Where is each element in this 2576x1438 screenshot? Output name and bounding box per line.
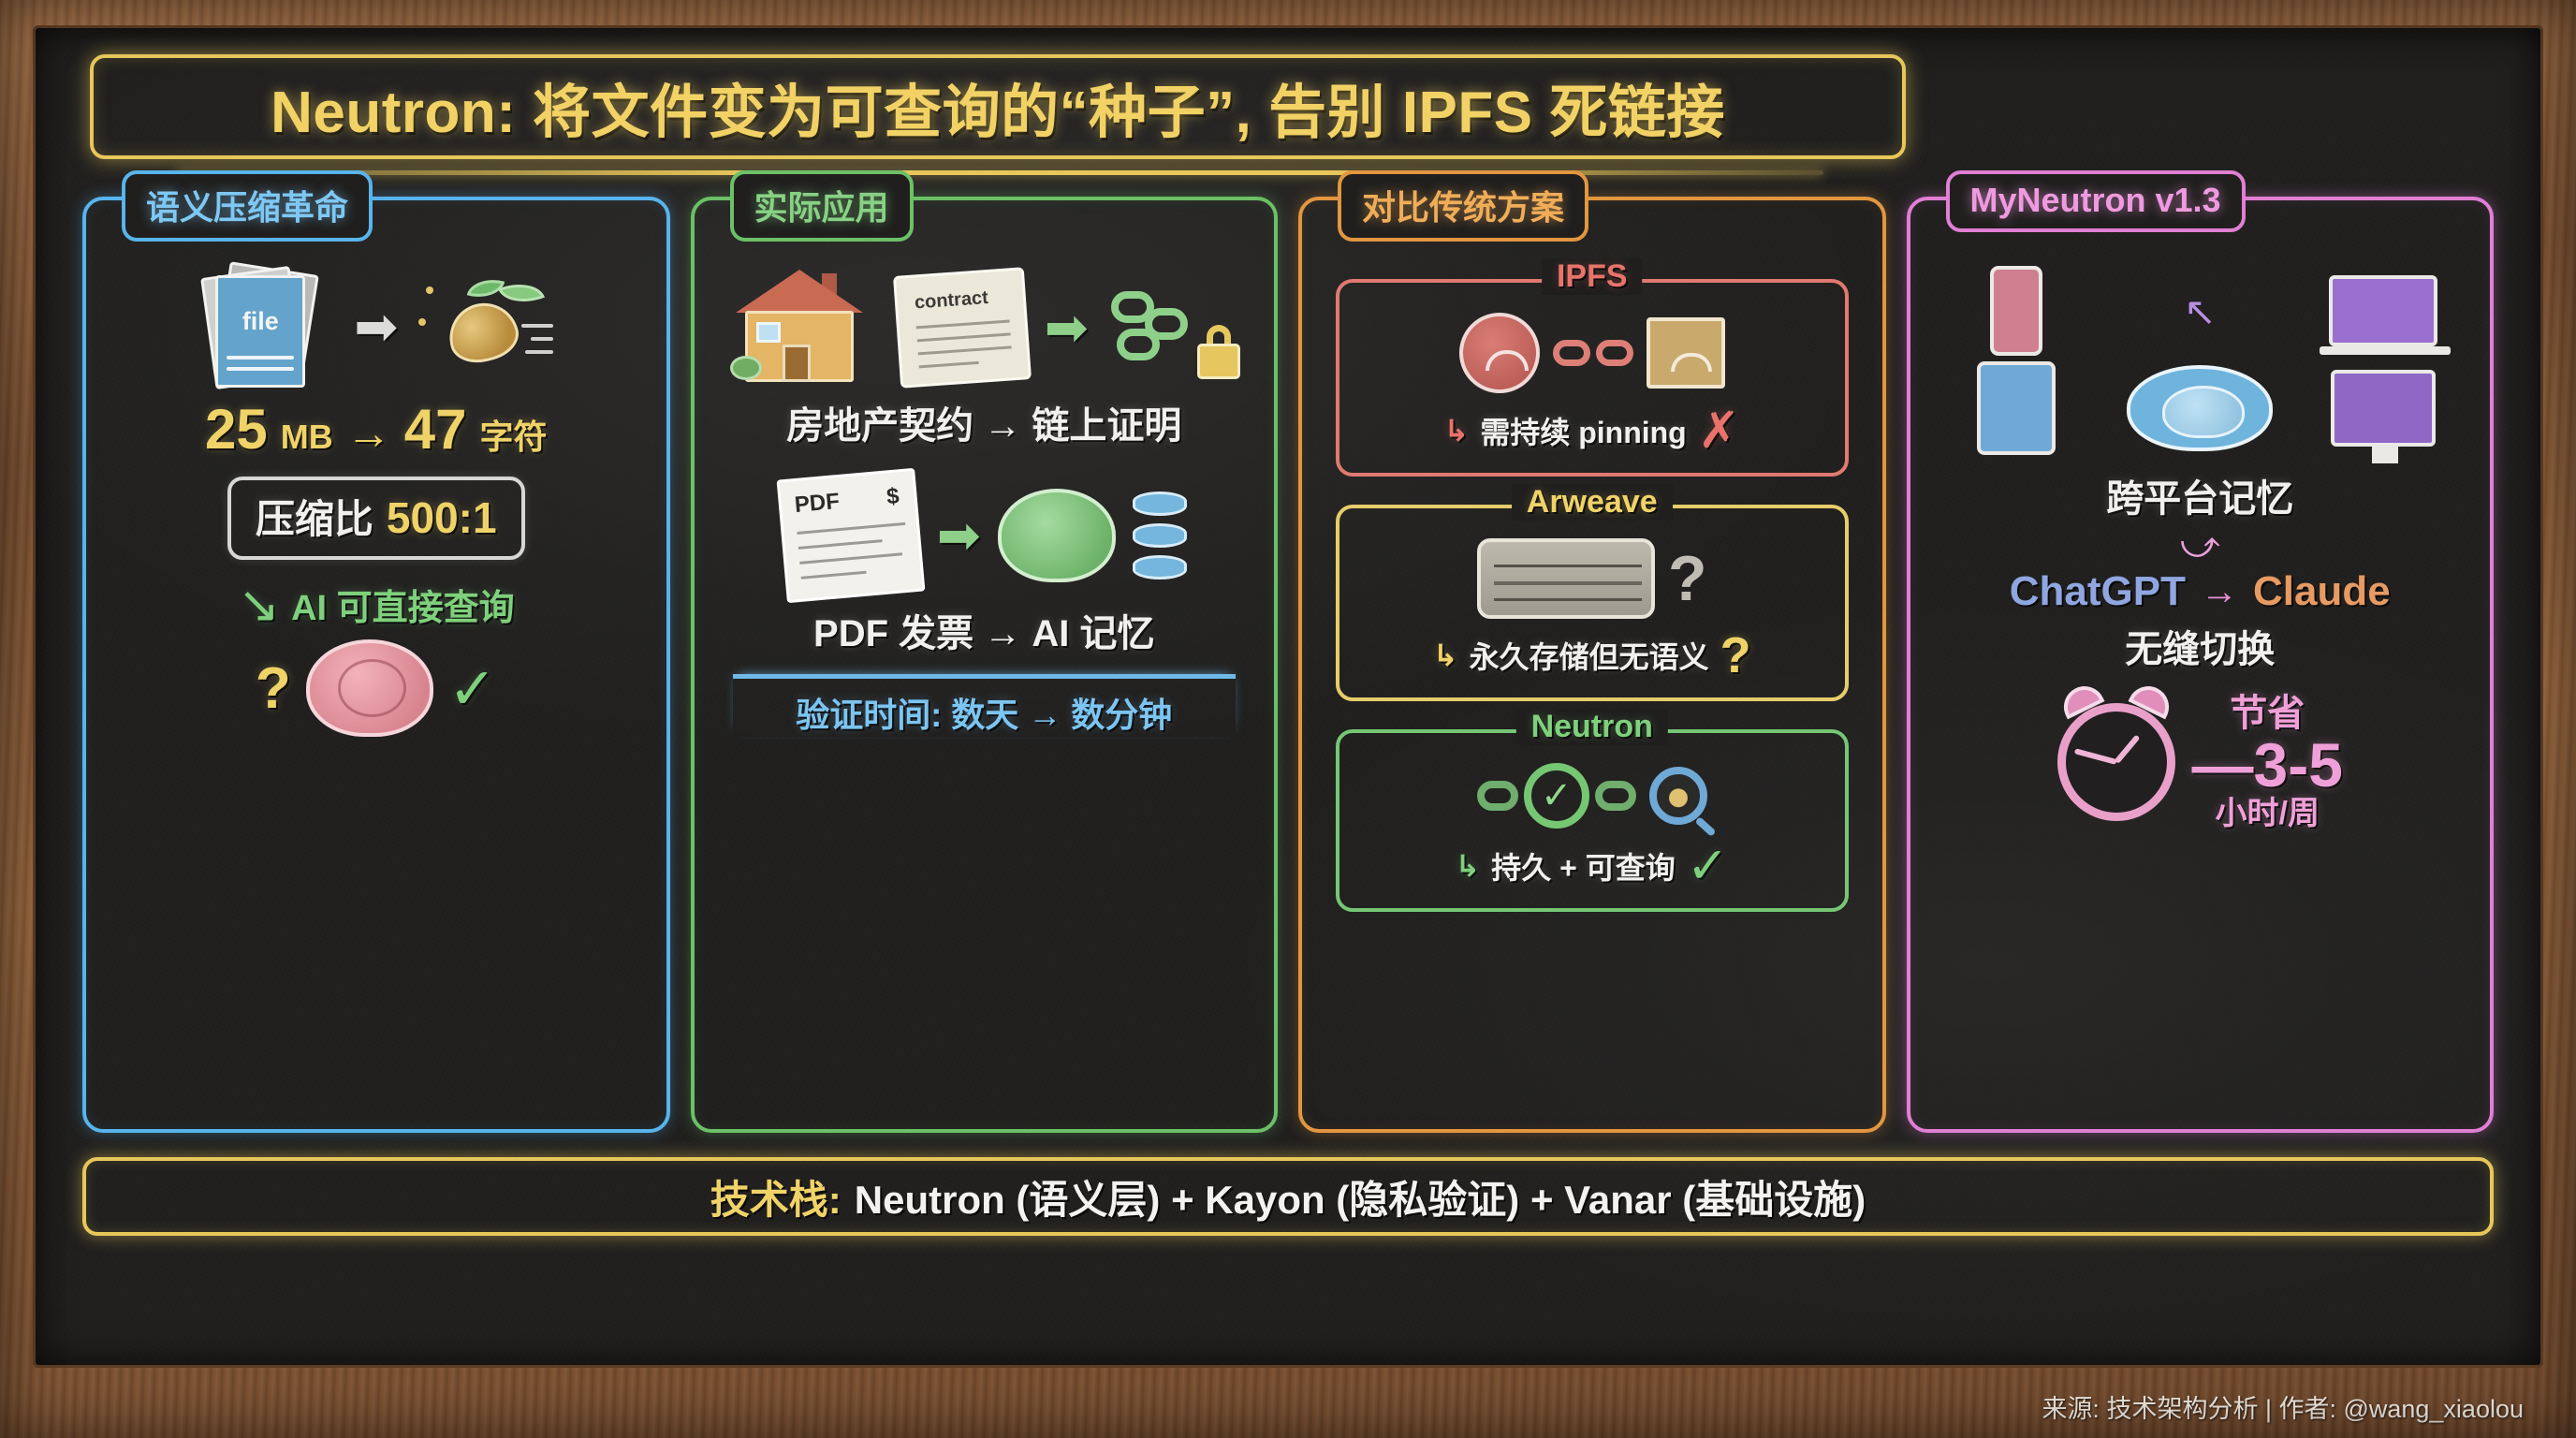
ipfs-caption-row: ↳ 需持续 pinning ✗ (1444, 401, 1740, 460)
contract-label: contract (914, 287, 988, 314)
flow-arrow-icon-1: ➡ (1045, 297, 1089, 359)
stone-tablet-icon (1477, 538, 1655, 619)
neutron-caption-row: ↳ 持久 + 可查询 ✓ (1455, 836, 1729, 895)
panel-body-applications: contract ➡ 房地产契约 → 链上证明 (695, 242, 1275, 754)
comparison-item-neutron: Neutron ✓ ↳ 持久 + 可查询 ✓ (1336, 729, 1849, 912)
application-caption-2: PDF 发票 → AI 记忆 (813, 603, 1154, 657)
tech-stack-bar: 技术栈: Neutron (语义层) + Kayon (隐私验证) + Vana… (82, 1157, 2494, 1236)
arweave-arrow-icon: ↳ (1433, 638, 1458, 673)
llm-from-label: ChatGPT (2010, 568, 2186, 615)
tech-stack-label: 技术栈: (710, 1168, 842, 1225)
verified-chain-icon: ✓ (1477, 763, 1636, 829)
monitor-icon (2331, 370, 2436, 447)
source-credit: 来源: 技术架构分析 | 作者: @wang_xiaolou (2042, 1388, 2524, 1425)
llm-switch-row: ChatGPT → Claude (2010, 568, 2391, 615)
savings-block: 节省 —3-5 小时/周 (2192, 694, 2343, 831)
neutron-caption: 持久 + 可查询 (1491, 844, 1675, 888)
panel-applications: 实际应用 contract ➡ (691, 197, 1279, 1133)
verification-time-text: 验证时间: 数天 → 数分钟 (796, 696, 1172, 734)
broken-chain-icon (1553, 340, 1633, 366)
llm-to-label: Claude (2253, 568, 2391, 615)
compression-illustration: file ➡ (197, 266, 555, 388)
savings-dash-icon: — (2192, 730, 2254, 800)
comparison-item-arweave: Arweave ? ↳ 永久存储但无语义 ? (1336, 505, 1849, 701)
arweave-question-icon: ? (1668, 542, 1707, 615)
arweave-verdict-icon: ? (1720, 626, 1751, 684)
seamless-switch-text: 无缝切换 (2125, 619, 2275, 673)
compression-ratio-box: 压缩比 500:1 (227, 477, 525, 560)
ipfs-illustration (1459, 313, 1725, 393)
device-sync-illustration: ↖ (1927, 266, 2474, 455)
phone-icon (1990, 266, 2042, 356)
pdf-illustration: PDF $ ➡ (782, 474, 1187, 597)
realestate-illustration: contract ➡ (723, 266, 1246, 389)
ratio-value: 500:1 (387, 492, 497, 543)
panel-header-myneutron: MyNeutron v1.3 (1946, 170, 2246, 232)
ipfs-caption: 需持续 pinning (1480, 409, 1686, 452)
panel-semantic-compression: 语义压缩革命 file ➡ (82, 197, 670, 1133)
llm-arrow-icon: → (2201, 571, 2238, 613)
ai-brain-icon (998, 489, 1116, 582)
check-mark-icon: ✓ (448, 654, 497, 723)
pdf-invoice-icon: PDF $ (776, 468, 925, 603)
compression-stat: 25 MB → 47 字符 (205, 397, 548, 462)
comparison-name-arweave: Arweave (1512, 484, 1673, 521)
panel-comparison: 对比传统方案 IPFS ↳ 需持续 pinning ✗ (1298, 197, 1886, 1133)
contract-scroll-icon: contract (893, 267, 1032, 388)
house-icon (723, 266, 880, 389)
brain-result-row: ? ✓ (256, 639, 497, 737)
savings-number: 3-5 (2254, 730, 2343, 800)
database-stack-icon (1133, 492, 1187, 580)
flow-arrow-icon-2: ➡ (937, 505, 981, 566)
title-banner: Neutron: 将文件变为可查询的“种子”, 告别 IPFS 死链接 (90, 54, 1906, 159)
savings-value: —3-5 (2192, 733, 2343, 798)
ratio-label: 压缩比 (256, 488, 373, 545)
neutron-verdict-icon: ✓ (1687, 836, 1729, 895)
sad-face-icon (1459, 313, 1540, 393)
ipfs-verdict-icon: ✗ (1698, 401, 1740, 460)
file-icon-label: file (215, 307, 305, 336)
tech-stack-value: Neutron (语义层) + Kayon (隐私验证) + Vanar (基础… (855, 1168, 1866, 1225)
application-caption-1: 房地产契约 → 链上证明 (786, 395, 1181, 449)
broken-box-icon (1647, 317, 1725, 389)
ipfs-arrow-icon: ↳ (1444, 413, 1470, 448)
savings-unit: 小时/周 (2216, 798, 2320, 831)
ai-query-text: AI 可直接查询 (291, 579, 515, 630)
panel-header-applications: 实际应用 (730, 170, 914, 242)
arweave-caption: 永久存储但无语义 (1470, 634, 1709, 677)
comparison-item-ipfs: IPFS ↳ 需持续 pinning ✗ (1336, 279, 1849, 477)
stat-to-unit: 字符 (479, 410, 547, 459)
panel-body-comparison: IPFS ↳ 需持续 pinning ✗ (1302, 242, 1882, 929)
brain-icon (306, 639, 433, 737)
neutron-arrow-icon: ↳ (1455, 848, 1480, 884)
comparison-name-neutron: Neutron (1516, 709, 1668, 745)
stat-arrow-icon: → (346, 408, 391, 460)
swap-icon: ⤻ (2180, 524, 2220, 566)
panel-body-compression: file ➡ 25 MB (86, 242, 666, 754)
laptop-icon (2329, 275, 2437, 346)
page-title: Neutron: 将文件变为可查询的“种子”, 告别 IPFS 死链接 (271, 65, 1725, 149)
stat-from-value: 25 (205, 397, 268, 462)
curved-arrow-icon: ↘ (238, 580, 280, 630)
stat-to-value: 47 (404, 397, 467, 462)
cloud-brain-icon (2127, 365, 2273, 451)
stat-from-unit: MB (281, 418, 333, 457)
panel-body-myneutron: ↖ 跨平台记忆 ⤻ ChatGPT → Claude 无缝切换 (1910, 242, 2491, 848)
panel-header-compression: 语义压缩革命 (122, 170, 373, 242)
transform-arrow-icon: ➡ (354, 296, 398, 358)
alarm-clock-icon (2057, 703, 2175, 821)
panel-myneutron: MyNeutron v1.3 ↖ 跨平台记忆 ⤻ ChatGPT → (1907, 197, 2495, 1133)
magnifier-seed-icon (1649, 767, 1707, 825)
ai-query-note: ↘ AI 可直接查询 (238, 579, 515, 630)
sync-arrow-left-icon: ↖ (2184, 288, 2217, 334)
neutron-illustration: ✓ (1477, 763, 1707, 829)
arweave-caption-row: ↳ 永久存储但无语义 ? (1433, 626, 1751, 684)
file-stack-icon: file (197, 266, 337, 388)
pdf-currency-label: $ (885, 483, 900, 510)
comparison-name-ipfs: IPFS (1542, 258, 1643, 295)
panel-header-comparison: 对比传统方案 (1338, 170, 1588, 242)
chain-lock-icon (1105, 267, 1246, 389)
panel-row: 语义压缩革命 file ➡ (82, 197, 2494, 1133)
time-savings-row: 节省 —3-5 小时/周 (1927, 694, 2474, 831)
question-mark-icon: ? (256, 655, 291, 722)
cross-platform-text: 跨平台记忆 (2106, 468, 2293, 522)
chalkboard-surface: Neutron: 将文件变为可查询的“种子”, 告别 IPFS 死链接 语义压缩… (36, 28, 2540, 1365)
verification-time-bar: 验证时间: 数天 → 数分钟 (733, 674, 1236, 737)
wooden-frame: Neutron: 将文件变为可查询的“种子”, 告别 IPFS 死链接 语义压缩… (0, 0, 2576, 1438)
pdf-label: PDF (794, 489, 841, 519)
arweave-illustration: ? (1477, 538, 1707, 619)
tablet-icon (1977, 361, 2056, 455)
seed-sprout-icon (415, 266, 555, 388)
savings-label: 节省 (2230, 694, 2305, 733)
